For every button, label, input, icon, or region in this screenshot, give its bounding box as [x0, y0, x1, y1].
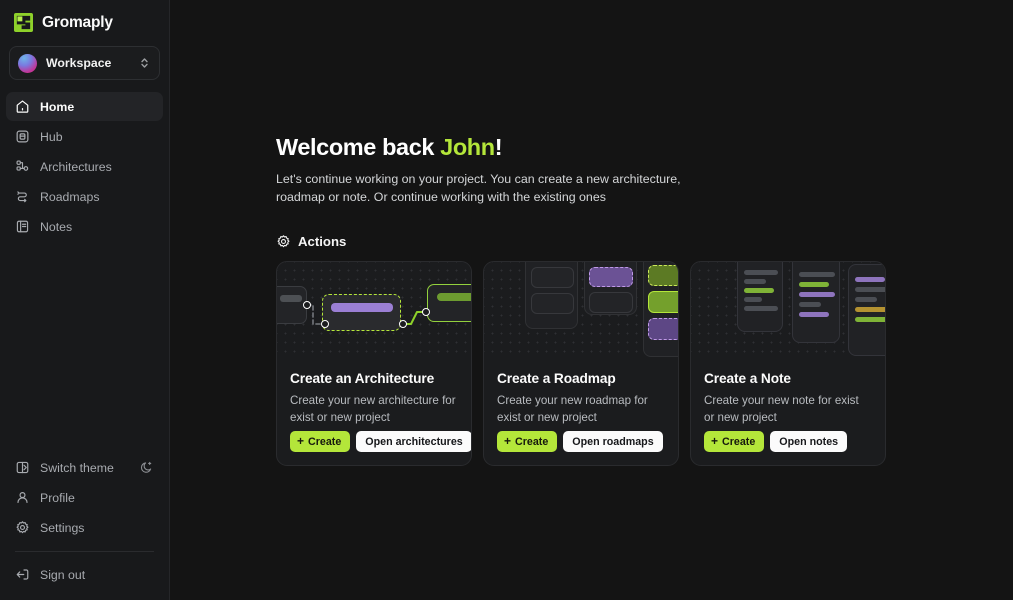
- create-button-label: Create: [515, 436, 548, 448]
- note-line-green: [744, 288, 774, 293]
- hub-icon: [15, 129, 30, 144]
- note-line: [855, 297, 877, 302]
- main-content: Welcome back John! Let's continue workin…: [170, 0, 1013, 600]
- arch-node-bar: [280, 295, 302, 302]
- sidebar-item-switch-theme[interactable]: Switch theme: [6, 453, 163, 482]
- open-architectures-button[interactable]: Open architectures: [356, 431, 471, 452]
- create-button-label: Create: [722, 436, 755, 448]
- card-create-architecture[interactable]: Create an Architecture Create your new a…: [276, 261, 472, 466]
- workspace-avatar: [18, 54, 37, 73]
- card-actions: + Create Open roadmaps: [497, 431, 665, 452]
- card-title: Create a Roadmap: [497, 371, 665, 386]
- gromaply-logo-icon: [14, 13, 33, 32]
- page-subtitle: Let's continue working on your project. …: [276, 170, 718, 207]
- create-roadmap-button[interactable]: + Create: [497, 431, 557, 452]
- roadmap-column: [643, 262, 678, 357]
- arch-port: [399, 320, 407, 328]
- sidebar-footer-nav: Switch theme Profile: [6, 453, 163, 600]
- create-button-label: Create: [308, 436, 341, 448]
- workspace-switcher[interactable]: Workspace: [9, 46, 160, 80]
- sidebar: Gromaply Workspace Home: [0, 0, 170, 600]
- card-create-roadmap[interactable]: Create a Roadmap Create your new roadmap…: [483, 261, 679, 466]
- arch-node-bar: [437, 293, 471, 301]
- note-line: [799, 302, 821, 307]
- note-line: [855, 287, 885, 292]
- sidebar-item-label: Home: [40, 100, 74, 114]
- brand-name: Gromaply: [42, 14, 113, 32]
- card-body: Create an Architecture Create your new a…: [277, 357, 471, 465]
- note-preview: [737, 262, 783, 332]
- arch-node-selected: [322, 294, 401, 331]
- app-root: Gromaply Workspace Home: [0, 0, 1013, 600]
- signout-wrap: Sign out: [6, 560, 163, 597]
- roadmap-card-purple: [589, 267, 633, 287]
- note-line-gold: [855, 307, 885, 312]
- brand[interactable]: Gromaply: [6, 0, 163, 43]
- primary-nav: Home Hub: [6, 92, 163, 241]
- roadmap-card: [531, 293, 574, 314]
- workspace-label: Workspace: [46, 56, 130, 70]
- note-line-green: [799, 282, 829, 287]
- sidebar-item-label: Notes: [40, 220, 72, 234]
- sidebar-item-notes[interactable]: Notes: [6, 212, 163, 241]
- roadmap-card: [531, 267, 574, 288]
- notes-icon: [15, 219, 30, 234]
- card-description: Create your new roadmap for exist or new…: [497, 393, 665, 426]
- plus-icon: +: [711, 435, 718, 447]
- note-preview: [848, 264, 885, 356]
- arch-port: [321, 320, 329, 328]
- card-description: Create your new architecture for exist o…: [290, 393, 458, 426]
- sidebar-item-label: Sign out: [40, 568, 154, 582]
- card-title: Create an Architecture: [290, 371, 458, 386]
- roadmap-column: [525, 262, 578, 329]
- note-line-purple: [799, 292, 835, 297]
- note-line-green: [855, 317, 885, 322]
- sidebar-item-label: Architectures: [40, 160, 112, 174]
- sidebar-item-sign-out[interactable]: Sign out: [6, 560, 163, 589]
- roadmap-icon: [15, 189, 30, 204]
- user-icon: [15, 490, 30, 505]
- plus-icon: +: [297, 435, 304, 447]
- note-line: [744, 279, 766, 284]
- card-body: Create a Roadmap Create your new roadmap…: [484, 357, 678, 465]
- architecture-diagram: [277, 262, 471, 357]
- welcome-suffix: !: [495, 134, 502, 160]
- note-line-purple: [799, 312, 829, 317]
- plus-icon: +: [504, 435, 511, 447]
- sidebar-divider: [15, 551, 154, 552]
- theme-panel-icon: [15, 460, 30, 475]
- card-actions: + Create Open notes: [704, 431, 872, 452]
- sidebar-item-settings[interactable]: Settings: [6, 513, 163, 542]
- sidebar-item-label: Switch theme: [40, 461, 129, 475]
- open-roadmaps-button[interactable]: Open roadmaps: [563, 431, 662, 452]
- sidebar-item-label: Roadmaps: [40, 190, 99, 204]
- card-body: Create a Note Create your new note for e…: [691, 357, 885, 465]
- home-icon: [15, 99, 30, 114]
- sidebar-item-label: Hub: [40, 130, 63, 144]
- sidebar-item-architectures[interactable]: Architectures: [6, 152, 163, 181]
- create-architecture-button[interactable]: + Create: [290, 431, 350, 452]
- note-line: [744, 297, 762, 302]
- roadmap-board: [484, 262, 678, 357]
- section-title: Actions: [298, 234, 346, 249]
- sidebar-item-home[interactable]: Home: [6, 92, 163, 121]
- note-line: [744, 270, 778, 275]
- card-description: Create your new note for exist or new pr…: [704, 393, 872, 426]
- section-header-actions: Actions: [276, 234, 1013, 249]
- gear-icon: [276, 234, 291, 249]
- sidebar-item-roadmaps[interactable]: Roadmaps: [6, 182, 163, 211]
- welcome-user-name: John: [440, 134, 495, 160]
- create-note-button[interactable]: + Create: [704, 431, 764, 452]
- card-create-note[interactable]: Create a Note Create your new note for e…: [690, 261, 886, 466]
- roadmap-card-purple: [648, 318, 678, 340]
- welcome-prefix: Welcome back: [276, 134, 440, 160]
- nodes-icon: [15, 159, 30, 174]
- chevrons-up-down-icon: [139, 56, 150, 70]
- sidebar-spacer: [6, 241, 163, 453]
- moon-icon[interactable]: [139, 460, 154, 475]
- gear-icon: [15, 520, 30, 535]
- sign-out-icon: [15, 567, 30, 582]
- note-line: [799, 272, 835, 277]
- sidebar-item-hub[interactable]: Hub: [6, 122, 163, 151]
- arch-port: [422, 308, 430, 316]
- roadmap-column: [584, 262, 637, 315]
- arch-port: [303, 301, 311, 309]
- roadmap-card-green: [648, 291, 678, 313]
- arch-node-bar: [331, 303, 393, 312]
- sidebar-item-label: Settings: [40, 521, 154, 535]
- sidebar-item-label: Profile: [40, 491, 154, 505]
- note-line-purple: [855, 277, 885, 282]
- open-notes-button[interactable]: Open notes: [770, 431, 847, 452]
- note-line: [744, 306, 778, 311]
- action-cards: Create an Architecture Create your new a…: [276, 261, 1013, 466]
- note-preview: [792, 262, 840, 343]
- roadmap-card-green-dashed: [648, 265, 678, 286]
- notes-stack: [691, 262, 885, 357]
- sidebar-item-profile[interactable]: Profile: [6, 483, 163, 512]
- card-title: Create a Note: [704, 371, 872, 386]
- page-title: Welcome back John!: [276, 135, 1013, 161]
- roadmap-card: [589, 292, 633, 313]
- arch-node-right: [427, 284, 471, 322]
- card-actions: + Create Open architectures: [290, 431, 458, 452]
